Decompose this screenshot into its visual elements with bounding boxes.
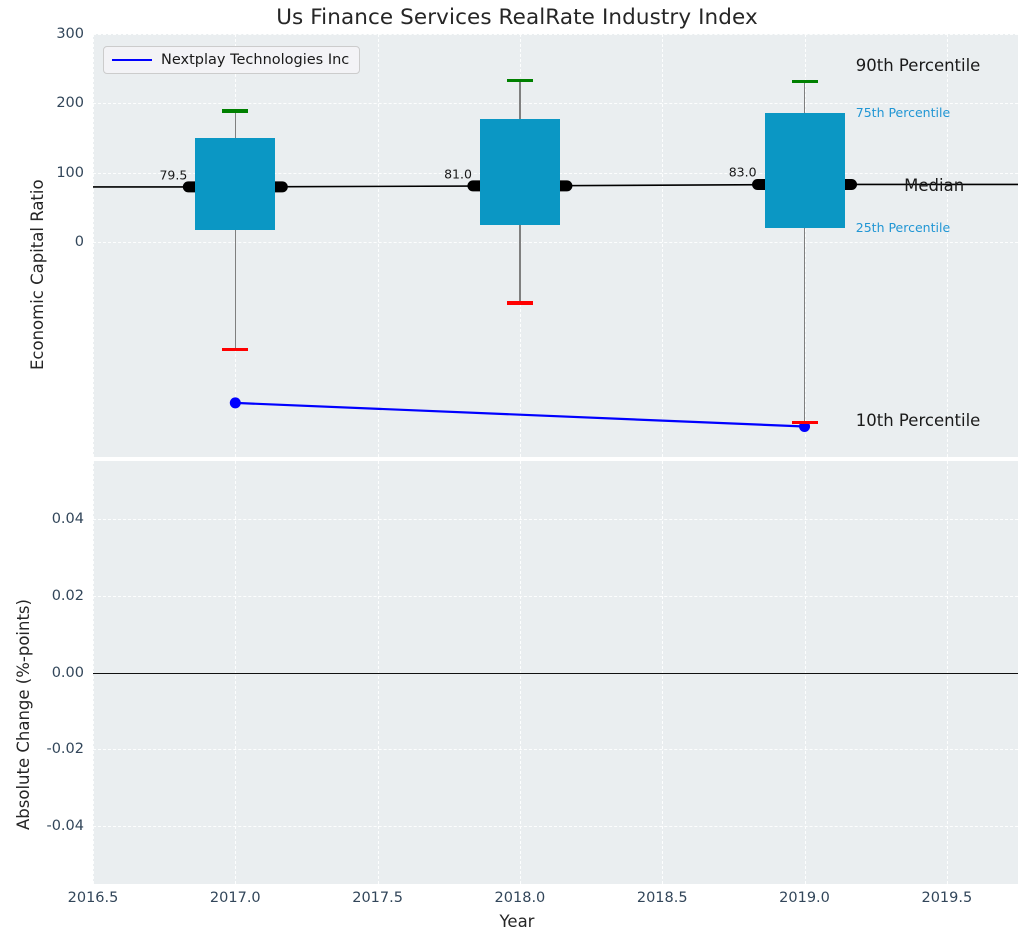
percentile-annotation: 25th Percentile [856, 220, 950, 235]
y-axis-tick-label: 300 [0, 26, 84, 42]
gridline-vertical [947, 34, 949, 457]
gridline-horizontal [93, 242, 1018, 244]
percentile-annotation: 10th Percentile [856, 411, 981, 430]
whisker-cap-p90 [222, 109, 248, 112]
top-y-axis-label: Economic Capital Ratio [28, 179, 47, 370]
median-value-label: 83.0 [729, 165, 757, 180]
median-value-label: 79.5 [159, 167, 187, 182]
page-title: Us Finance Services RealRate Industry In… [0, 5, 1034, 30]
whisker-cap-p90 [507, 79, 533, 82]
x-axis-label: Year [0, 912, 1034, 931]
legend-line-swatch [112, 59, 152, 61]
gridline-horizontal [93, 749, 1018, 751]
y-axis-tick-label: 0.02 [0, 588, 84, 604]
percentile-annotation: Median [904, 176, 964, 195]
legend[interactable]: Nextplay Technologies Inc [103, 46, 360, 74]
gridline-vertical [93, 34, 95, 457]
chart-figure: Us Finance Services RealRate Industry In… [0, 0, 1034, 942]
x-axis-tick-label: 2019.0 [760, 890, 850, 906]
legend-item-label: Nextplay Technologies Inc [161, 52, 349, 68]
zero-reference-line [93, 673, 1018, 674]
x-axis-tick-label: 2017.5 [333, 890, 423, 906]
percentile-annotation: 90th Percentile [856, 56, 981, 75]
interquartile-box [480, 119, 560, 224]
gridline-horizontal [93, 519, 1018, 521]
bottom-y-axis-label: Absolute Change (%-points) [14, 599, 33, 830]
y-axis-tick-label: -0.04 [0, 818, 84, 834]
whisker-cap-p10 [792, 421, 818, 424]
whisker-cap-p90 [792, 80, 818, 83]
x-axis-tick-label: 2018.0 [475, 890, 565, 906]
median-line [93, 34, 1018, 457]
interquartile-box [765, 113, 845, 228]
whisker-cap-p10 [507, 301, 533, 304]
y-axis-tick-label: -0.02 [0, 741, 84, 757]
company-line-series [93, 34, 1018, 457]
gridline-vertical [378, 34, 380, 457]
gridline-horizontal [93, 596, 1018, 598]
median-value-label: 81.0 [444, 166, 472, 181]
x-axis-tick-label: 2017.0 [190, 890, 280, 906]
y-axis-tick-label: 100 [0, 165, 84, 181]
x-axis-tick-label: 2016.5 [48, 890, 138, 906]
gridline-vertical [662, 34, 664, 457]
top-plot-panel: 79.581.083.0 90th Percentile75th Percent… [93, 34, 1018, 457]
x-axis-tick-label: 2019.5 [902, 890, 992, 906]
gridline-horizontal [93, 826, 1018, 828]
gridline-horizontal [93, 34, 1018, 36]
whisker-cap-p10 [222, 348, 248, 351]
x-axis-tick-label: 2018.5 [617, 890, 707, 906]
percentile-annotation: 75th Percentile [856, 105, 950, 120]
interquartile-box [195, 138, 275, 230]
y-axis-tick-label: 0.00 [0, 665, 84, 681]
y-axis-tick-label: 0.04 [0, 511, 84, 527]
y-axis-tick-label: 200 [0, 95, 84, 111]
bottom-plot-panel [93, 461, 1018, 884]
